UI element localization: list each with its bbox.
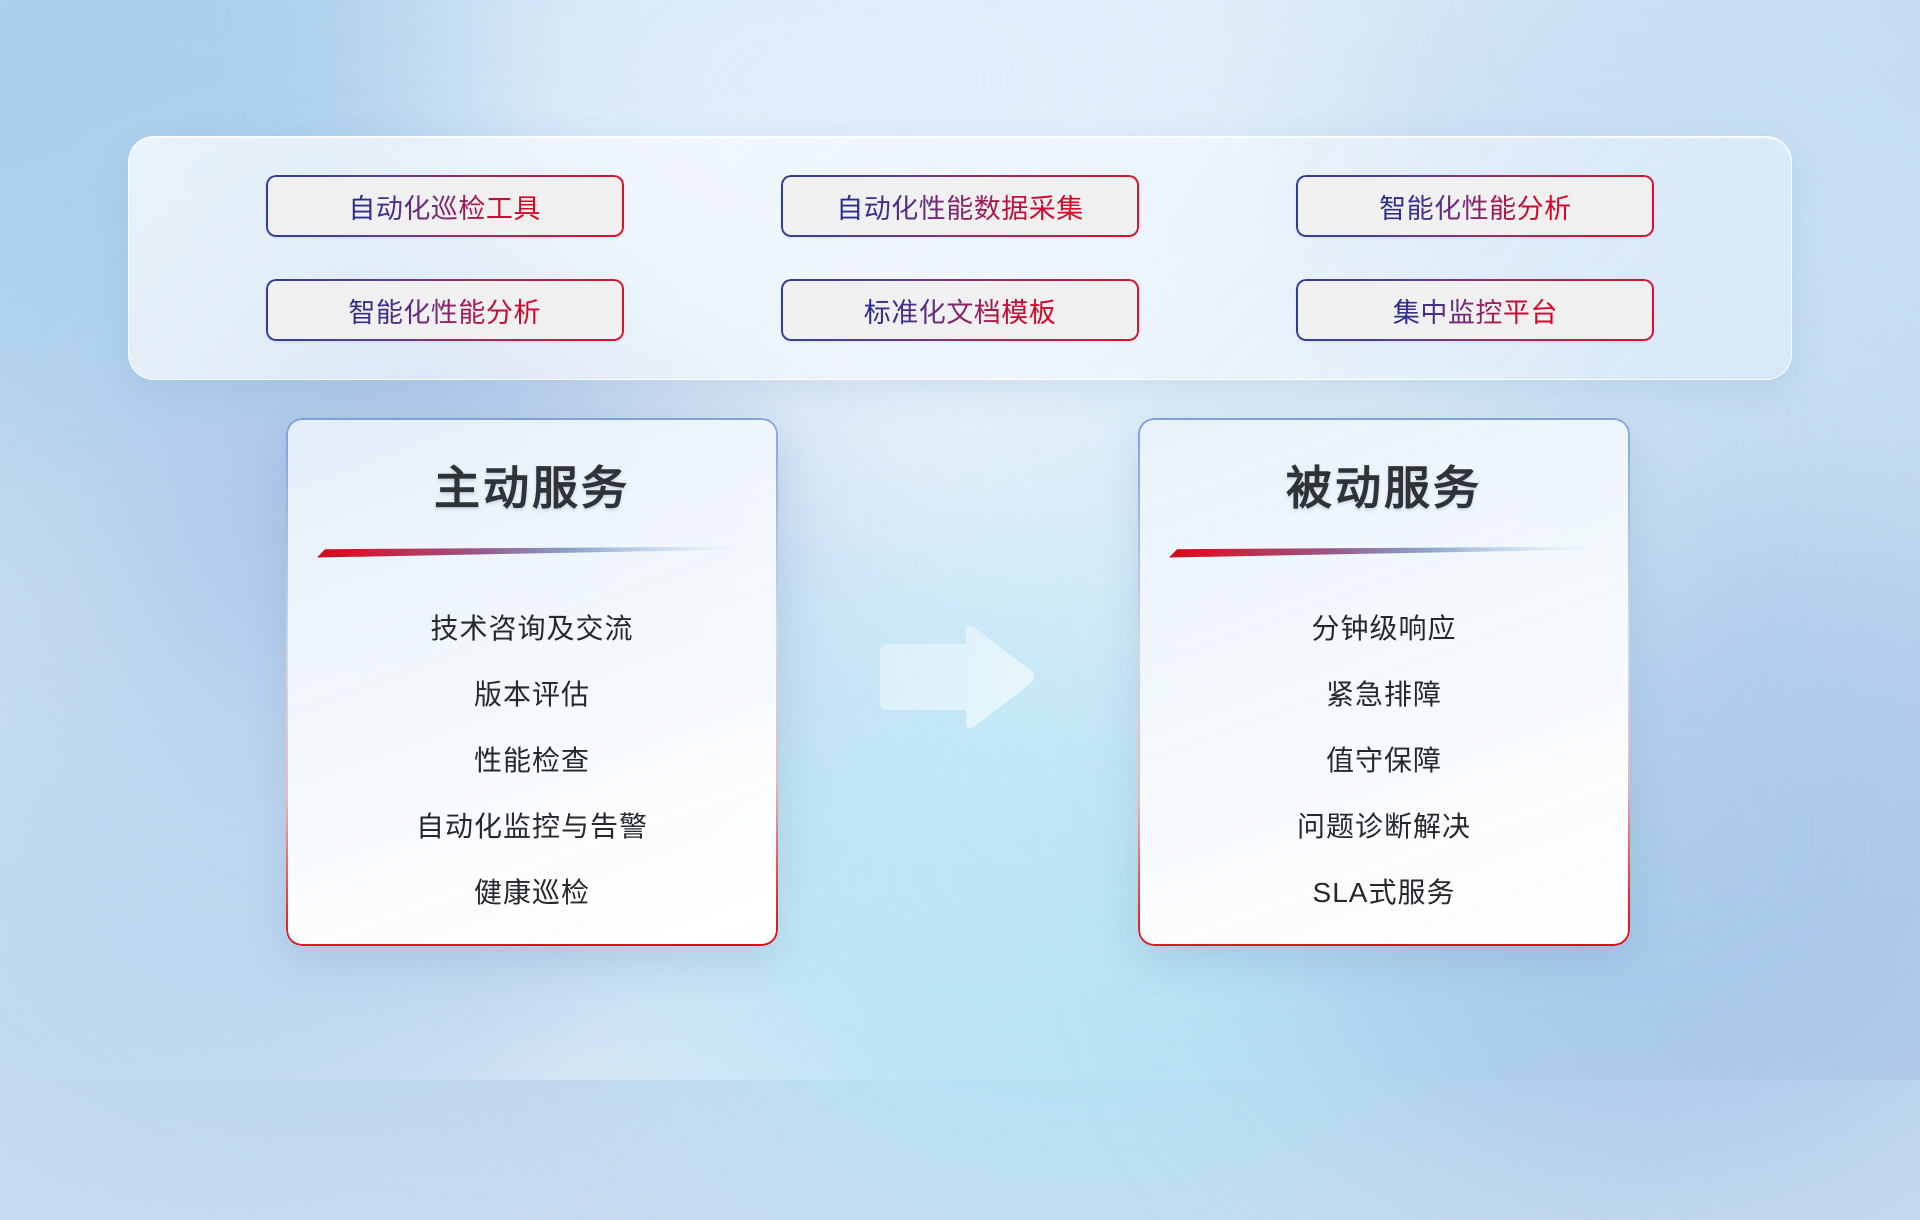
list-item: 性能检查: [474, 728, 590, 794]
flow-arrow-right-icon: [870, 622, 1036, 732]
list-item: 版本评估: [474, 662, 590, 728]
capability-pill-3[interactable]: 智能化性能分析: [1296, 175, 1654, 237]
capabilities-grid: 自动化巡检工具 自动化性能数据采集 智能化性能分析 智能化性能分析 标准化文档模…: [129, 137, 1791, 379]
service-card-list: 技术咨询及交流 版本评估 性能检查 自动化监控与告警 健康巡检: [316, 596, 748, 926]
list-item: 紧急排障: [1326, 662, 1442, 728]
capability-pill-2[interactable]: 自动化性能数据采集: [781, 175, 1139, 237]
capability-pill-1[interactable]: 自动化巡检工具: [266, 175, 624, 237]
capabilities-panel: 自动化巡检工具 自动化性能数据采集 智能化性能分析 智能化性能分析 标准化文档模…: [128, 136, 1792, 380]
divider-wedge-icon: [317, 546, 747, 558]
list-item: 技术咨询及交流: [430, 596, 633, 662]
capability-pill-label: 智能化性能分析: [1379, 187, 1572, 226]
service-card-proactive[interactable]: 主动服务: [286, 418, 778, 946]
capability-pill-5[interactable]: 标准化文档模板: [781, 279, 1139, 341]
service-card-title: 主动服务: [316, 452, 748, 518]
list-item: 值守保障: [1326, 728, 1442, 794]
list-item: 分钟级响应: [1311, 596, 1456, 662]
capability-pill-label: 标准化文档模板: [864, 291, 1057, 330]
capability-pill-4[interactable]: 智能化性能分析: [266, 279, 624, 341]
service-card-inner: 被动服务: [1138, 418, 1630, 946]
list-item: SLA式服务: [1313, 860, 1456, 926]
divider-wedge-icon: [1169, 546, 1599, 558]
list-item: 问题诊断解决: [1297, 794, 1471, 860]
diagram-stage: 自动化巡检工具 自动化性能数据采集 智能化性能分析 智能化性能分析 标准化文档模…: [0, 0, 1920, 1080]
service-card-reactive[interactable]: 被动服务: [1138, 418, 1630, 946]
service-card-title: 被动服务: [1168, 452, 1600, 518]
capability-pill-6[interactable]: 集中监控平台: [1296, 279, 1654, 341]
list-item: 自动化监控与告警: [416, 794, 648, 860]
arrow-right-icon: [870, 622, 1036, 732]
service-card-inner: 主动服务: [286, 418, 778, 946]
capability-pill-label: 集中监控平台: [1393, 291, 1558, 330]
capability-pill-label: 自动化巡检工具: [348, 187, 541, 226]
service-card-list: 分钟级响应 紧急排障 值守保障 问题诊断解决 SLA式服务: [1168, 596, 1600, 926]
capability-pill-label: 自动化性能数据采集: [836, 187, 1084, 226]
title-divider: [317, 546, 747, 558]
title-divider: [1169, 546, 1599, 558]
list-item: 健康巡检: [474, 860, 590, 926]
capability-pill-label: 智能化性能分析: [348, 291, 541, 330]
